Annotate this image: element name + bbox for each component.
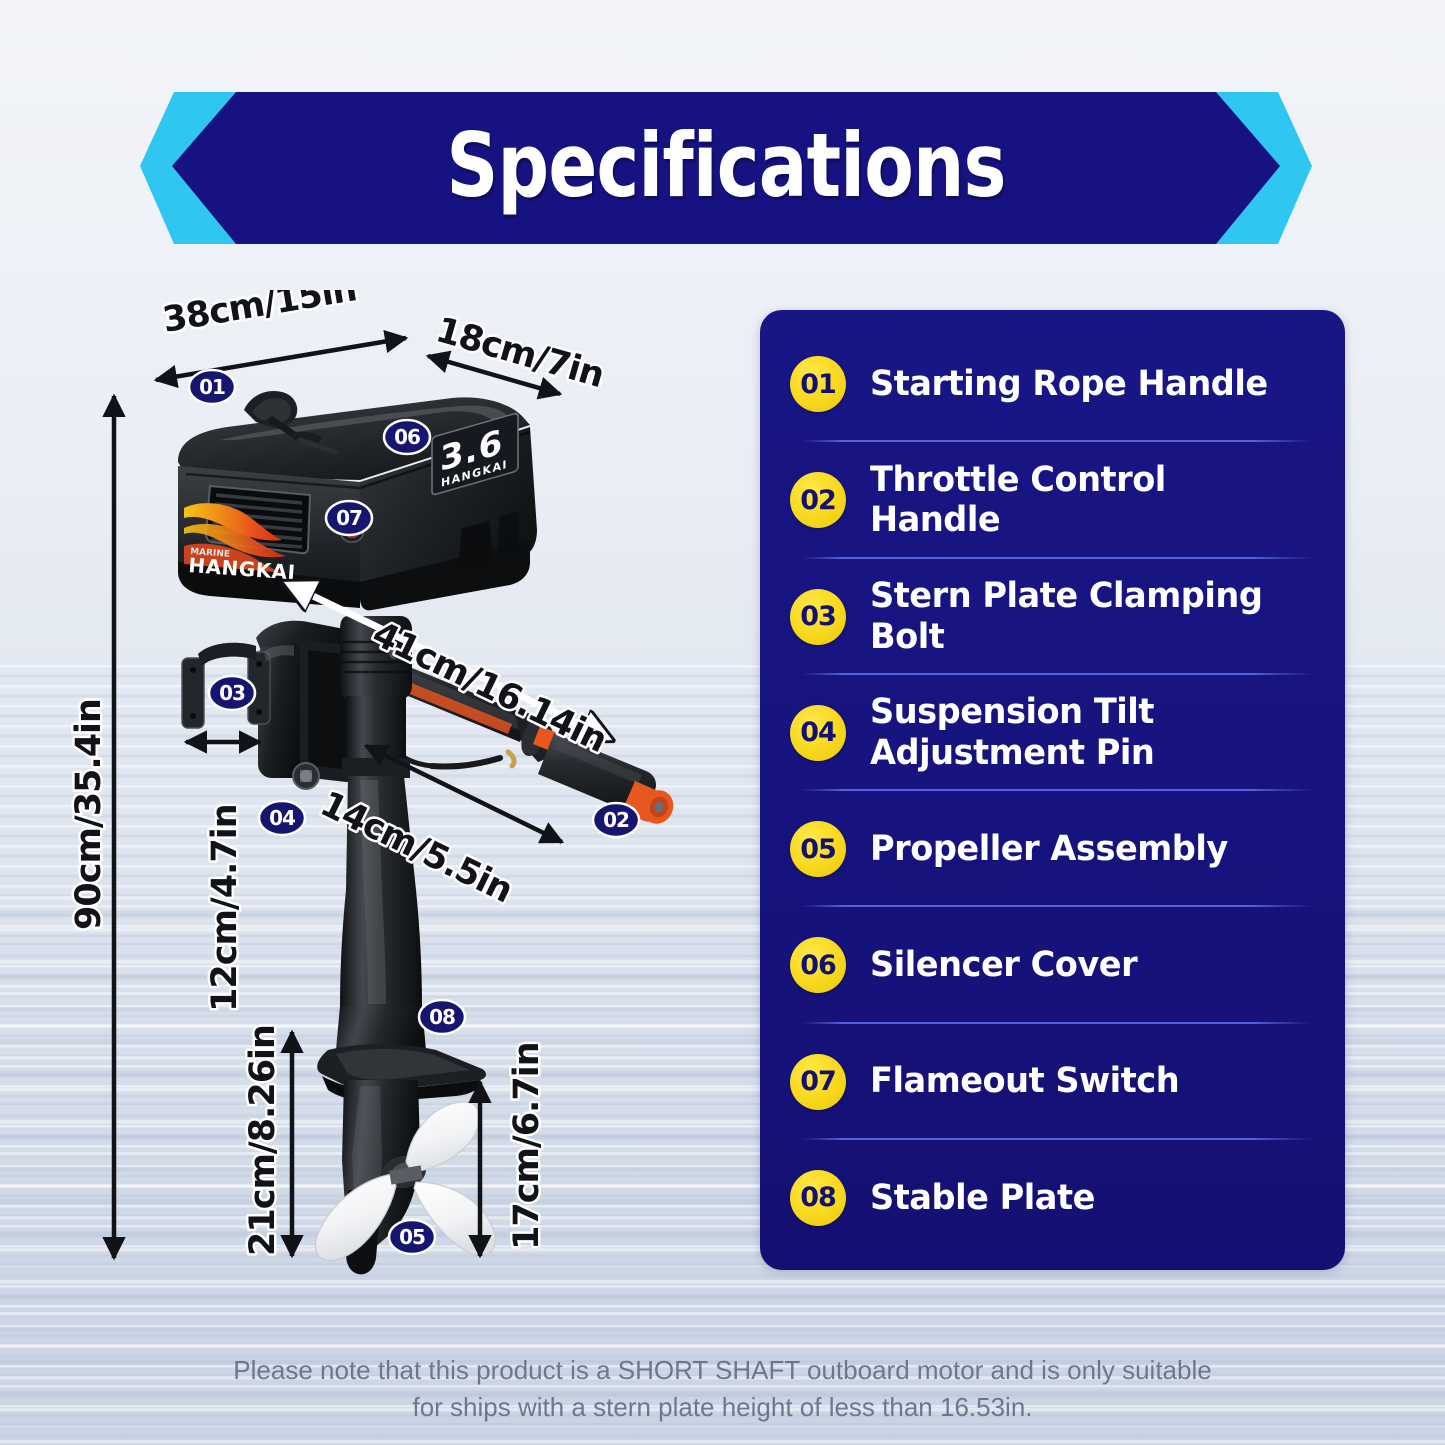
footer-disclaimer: Please note that this product is a SHORT… [0,1352,1445,1426]
legend-item-01[interactable]: 01 Starting Rope Handle [790,326,1319,442]
dimension-lower-unit: 21cm/8.26in [243,1025,292,1256]
legend-badge-03: 03 [790,589,846,645]
page-title: Specifications [245,92,1206,244]
legend-label-06: Silencer Cover [870,945,1137,986]
dim-label-lower-unit: 21cm/8.26in [243,1025,283,1256]
dimension-clamp-span: 12cm/4.7in [186,742,260,1012]
callout-08: 08 [419,1000,465,1034]
legend-badge-01: 01 [790,356,846,412]
legend-label-03: Stern Plate Clamping Bolt [870,576,1301,657]
legend-label-04-line2: Adjustment Pin [870,733,1154,774]
dim-label-shaft-to-prop: 17cm/6.7in [507,1042,547,1250]
callout-02-number: 02 [603,808,629,832]
callout-02: 02 [593,803,639,837]
legend-badge-08: 08 [790,1170,846,1226]
callout-04: 04 [259,801,305,835]
callout-04-number: 04 [269,806,295,830]
callout-03: 03 [209,676,255,710]
legend-badge-06: 06 [790,937,846,993]
legend-item-05[interactable]: 05 Propeller Assembly [790,791,1319,907]
legend-label-04: Suspension Tilt Adjustment Pin [870,692,1154,773]
dimension-depth-top: 18cm/7in [428,310,608,396]
legend-item-03[interactable]: 03 Stern Plate Clamping Bolt [790,559,1319,675]
tilt-adjustment-pin [293,763,319,789]
legend-badge-02: 02 [790,472,846,528]
callout-01-number: 01 [199,375,225,399]
legend-item-07[interactable]: 07 Flameout Switch [790,1024,1319,1140]
footer-line-2: for ships with a stern plate height of l… [0,1389,1445,1426]
legend-label-02: Throttle Control Handle [870,460,1301,541]
callout-07: 07 [326,501,372,535]
transom-clamp-bracket [182,621,360,789]
dimension-width-top: 38cm/15in [156,290,406,380]
legend-label-04-line1: Suspension Tilt [870,692,1154,733]
legend-item-06[interactable]: 06 Silencer Cover [790,907,1319,1023]
dimension-overall-height: 90cm/35.4in [69,396,114,1258]
legend-label-07: Flameout Switch [870,1061,1179,1102]
legend-item-08[interactable]: 08 Stable Plate [790,1140,1319,1256]
footer-line-1: Please note that this product is a SHORT… [0,1352,1445,1389]
header-banner: Specifications [140,92,1312,244]
dim-label-width-top: 38cm/15in [160,290,359,341]
legend-label-05: Propeller Assembly [870,829,1228,870]
callout-06: 06 [384,420,430,454]
callout-05-number: 05 [399,1225,425,1249]
specifications-legend-panel: 01 Starting Rope Handle 02 Throttle Cont… [760,310,1345,1270]
callout-06-number: 06 [394,425,420,449]
callout-03-number: 03 [219,681,245,705]
legend-label-01: Starting Rope Handle [870,364,1268,405]
product-diagram: HANGKAI MARINE 3.6 HANGKAI [60,290,760,1300]
callout-07-number: 07 [336,506,362,530]
legend-badge-05: 05 [790,821,846,877]
callout-01: 01 [189,370,235,404]
legend-badge-04: 04 [790,705,846,761]
dim-label-clamp-span: 12cm/4.7in [205,804,245,1012]
dim-label-overall-height: 90cm/35.4in [69,699,109,930]
legend-badge-07: 07 [790,1054,846,1110]
legend-item-04[interactable]: 04 Suspension Tilt Adjustment Pin [790,675,1319,791]
legend-item-02[interactable]: 02 Throttle Control Handle [790,442,1319,558]
legend-label-08: Stable Plate [870,1178,1095,1219]
callout-08-number: 08 [429,1005,455,1029]
callout-05: 05 [389,1220,435,1254]
